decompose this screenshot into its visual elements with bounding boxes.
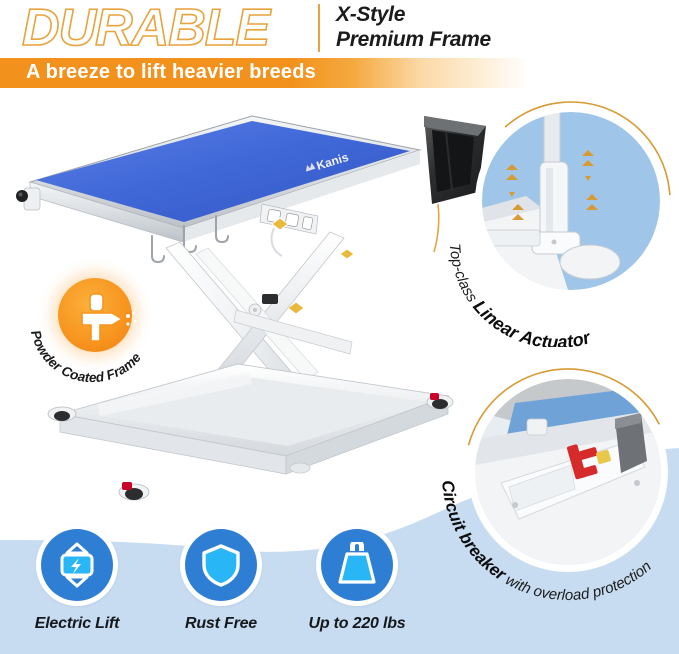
height-adjust-knob: [16, 188, 40, 210]
header: DURABLE X-Style Premium Frame A breeze t…: [0, 0, 679, 94]
feature-label-rust-free: Rust Free: [156, 615, 286, 633]
feature-electric-lift: Electric Lift: [12, 524, 142, 633]
power-cord: [434, 204, 439, 252]
subtitle-line-2: Premium Frame: [336, 27, 491, 52]
breaker-arc: [459, 363, 677, 581]
header-divider: [318, 4, 320, 52]
electric-lift-icon: [53, 541, 101, 589]
feature-badges: Electric Lift Rust Free: [0, 524, 460, 644]
x-style-scissor-frame: [166, 232, 352, 390]
tagline-text: A breeze to lift heavier breeds: [26, 61, 316, 84]
infographic-canvas: DURABLE X-Style Premium Frame A breeze t…: [0, 0, 679, 654]
electric-lift-disc: [41, 529, 113, 601]
feature-label-weight: Up to 220 lbs: [292, 615, 422, 633]
badge-powder-coated: Powder Coated Frame: [22, 272, 172, 382]
header-subtitle: X-Style Premium Frame: [336, 2, 491, 52]
spray-gun-icon: [82, 294, 136, 341]
callout-circuit-breaker: Circuit breaker with overload protection: [468, 372, 668, 572]
feature-weight-capacity: Up to 220 lbs: [292, 524, 422, 633]
outlet-cable: [272, 228, 282, 256]
weight-disc-outer: [316, 524, 398, 606]
page-title: DURABLE: [22, 2, 269, 54]
rust-free-disc: [185, 529, 257, 601]
rust-free-disc-outer: [180, 524, 262, 606]
feature-rust-free: Rust Free: [156, 524, 286, 633]
tagline-banner: A breeze to lift heavier breeds: [0, 58, 679, 88]
actuator-arc: [466, 96, 676, 306]
subtitle-line-1: X-Style: [336, 2, 491, 27]
feature-label-electric-lift: Electric Lift: [12, 615, 142, 633]
power-outlet-panel: [260, 204, 318, 234]
electric-lift-disc-outer: [36, 524, 118, 606]
powder-badge-label: Powder Coated Frame: [28, 329, 144, 382]
shield-icon: [198, 542, 244, 588]
callout-linear-actuator: Top-class Linear Actuator: [475, 105, 667, 297]
weight-icon: [334, 542, 380, 588]
weight-disc: [321, 529, 393, 601]
